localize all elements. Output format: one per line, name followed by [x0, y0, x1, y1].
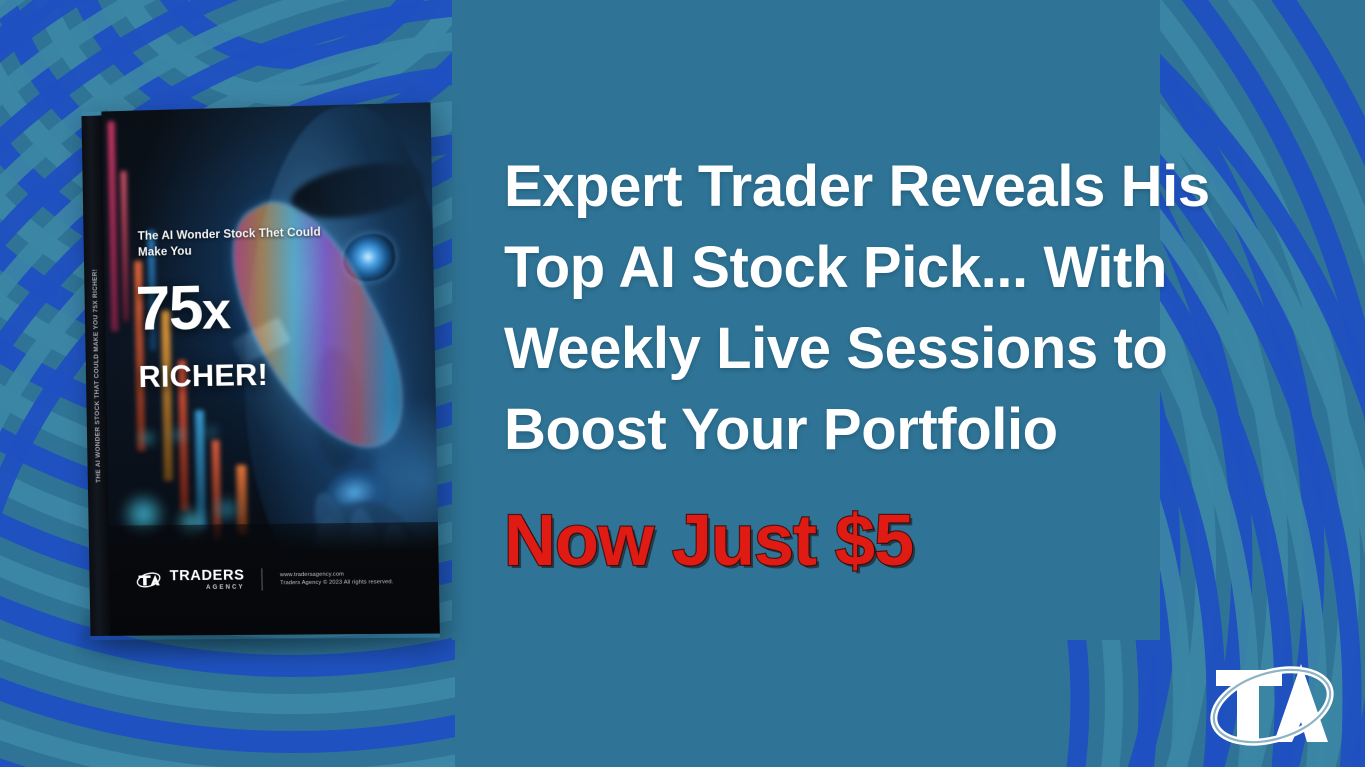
book-spine-text: THE AI WONDER STOCK THAT COULD MAKE YOU … [92, 269, 103, 483]
cover-candlestick [108, 121, 119, 331]
cover-footer-divider [262, 568, 263, 590]
traders-agency-mark-icon [135, 572, 161, 589]
cover-footer: TRADERS AGENCY www.tradersagency.com Tra… [109, 522, 440, 636]
ebook-mockup: THE AI WONDER STOCK THAT COULD MAKE YOU … [86, 112, 431, 640]
headline-line-3: Weekly Live Sessions to [504, 308, 1304, 389]
price-callout: Now Just $5 [504, 505, 913, 577]
promotional-banner: THE AI WONDER STOCK THAT COULD MAKE YOU … [0, 0, 1365, 767]
cover-logo-name: TRADERS [170, 569, 245, 584]
headline-line-2: Top AI Stock Pick... With [504, 227, 1304, 308]
cover-subhead: RICHER! [138, 358, 268, 395]
traders-agency-logo-icon [1202, 650, 1342, 754]
cover-artwork: The AI Wonder Stock Thet Could Make You … [101, 102, 439, 636]
cover-fine-print-line-2: Traders Agency © 2023 All rights reserve… [280, 579, 393, 586]
headline-line-4: Boost Your Portfolio [504, 389, 1304, 470]
page-title: Expert Trader Reveals His Top AI Stock P… [504, 146, 1304, 470]
cover-headline: 75x [135, 279, 230, 338]
book-front-cover: The AI Wonder Stock Thet Could Make You … [101, 102, 439, 636]
cover-headline-number: 75 [135, 274, 202, 345]
cover-logo-sub: AGENCY [170, 584, 245, 591]
cover-kicker: The AI Wonder Stock Thet Could Make You [138, 224, 349, 261]
cover-headline-suffix: x [201, 282, 230, 341]
cover-candlestick [120, 171, 129, 321]
headline-line-1: Expert Trader Reveals His [504, 146, 1304, 227]
book-body: THE AI WONDER STOCK THAT COULD MAKE YOU … [81, 102, 440, 640]
cover-bokeh-light [137, 431, 157, 445]
cover-fine-print-line-1: www.tradersagency.com [280, 571, 393, 578]
cover-bokeh-light [203, 426, 219, 438]
